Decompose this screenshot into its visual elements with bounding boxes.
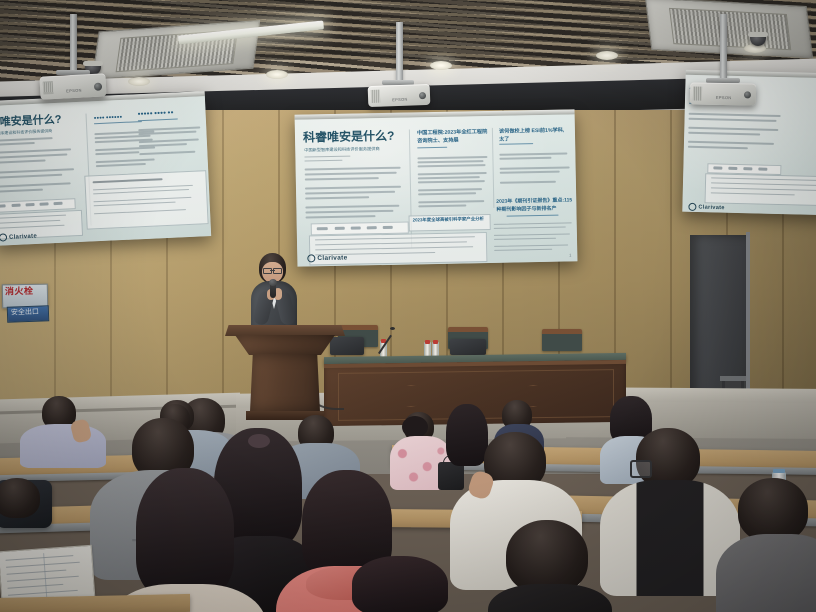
slide-center-col3-heading: 2023年《期刊引证报告》重点:115种期刊影响因子与新排名产: [496, 196, 572, 213]
alcove-edge: [746, 232, 750, 408]
presenter-glasses: [263, 268, 282, 272]
recessed-downlight: [128, 77, 150, 86]
recessed-downlight: [596, 51, 618, 60]
slide-center-pageno: 1: [569, 252, 571, 257]
attendee-bun-hair: [402, 416, 428, 438]
attendee-front-center-dark: [488, 520, 608, 612]
slide-center: 科睿唯安是什么? 中国新型智库建设和科技评价服务提供商 中国工程院:2023年全…: [295, 114, 578, 266]
panel-chair: [542, 329, 582, 351]
attendee-front-row-right: [716, 478, 816, 612]
slide-center-col1-heading: 中国工程院:2023年全红工程院咨询院士、支持展: [417, 128, 489, 145]
microphone-head: [269, 279, 277, 286]
recessed-downlight: [430, 61, 452, 70]
lecture-hall-scene: 消火栓 安全出口 科睿唯安是什么? 中国新型智库建设和科技评价服务提供商 ●●●…: [0, 0, 816, 612]
wall-sign-blue-text: 安全出口: [11, 308, 39, 318]
clarivate-mark-icon: [0, 233, 7, 241]
attendee-cream-jacket: [108, 468, 258, 612]
microphone-head: [390, 327, 395, 330]
slide-right-logo: Clarivate: [688, 203, 725, 212]
wall-sign-blue: 安全出口: [7, 305, 50, 322]
wall-sign-red-text: 消火栓: [5, 286, 34, 296]
projection-screen-left: 科睿唯安是什么? 中国新型智库建设和科技评价服务提供商 ●●●● ●●●●●● …: [0, 91, 211, 246]
ac-cassette-vent: [645, 0, 813, 58]
hair-tie: [248, 434, 270, 448]
projection-screen-center: 科睿唯安是什么? 中国新型智库建设和科技评价服务提供商 中国工程院:2023年全…: [295, 109, 578, 266]
slide-center-title: 科睿唯安是什么?: [303, 127, 395, 146]
slide-center-col2-heading: 该何做校上榜 ESI前1%学科, 太了: [499, 126, 571, 143]
clarivate-mark-icon: [688, 203, 696, 211]
recessed-downlight: [266, 70, 288, 79]
attendee-front-bottom: [336, 556, 468, 612]
attendee-glasses: [630, 460, 652, 478]
desk-row-front: [0, 594, 190, 612]
briefcase: [450, 339, 486, 355]
slide-left: 科睿唯安是什么? 中国新型智库建设和科技评价服务提供商 ●●●● ●●●●●● …: [0, 96, 211, 246]
attendee-far-left-front: [0, 478, 64, 548]
